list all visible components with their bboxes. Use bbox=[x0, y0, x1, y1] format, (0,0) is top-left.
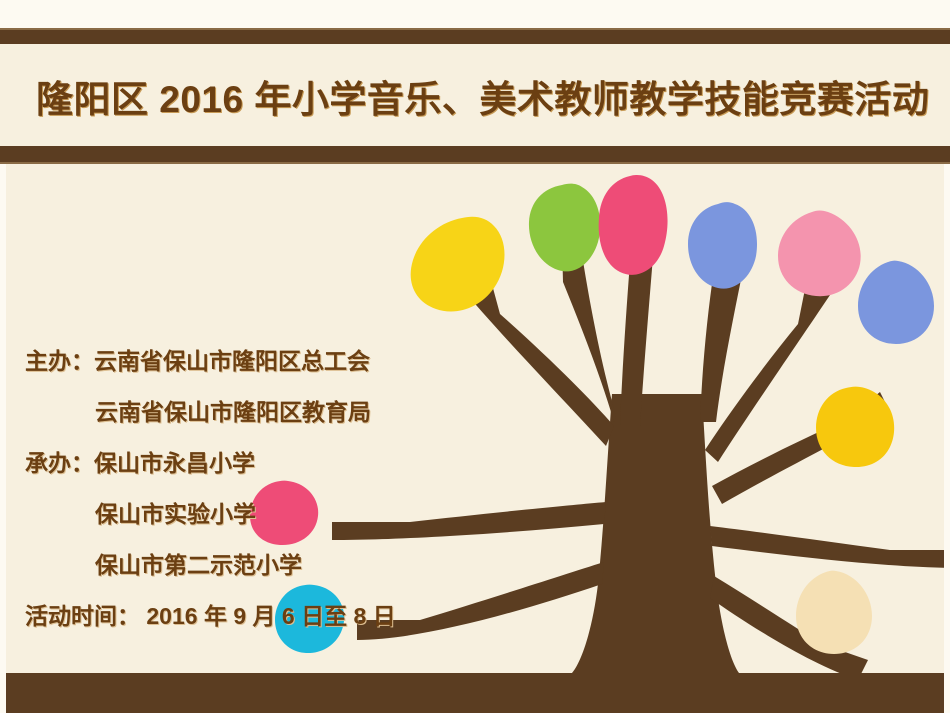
event-info-block: 主办：云南省保山市隆阳区总工会 云南省保山市隆阳区教育局 承办：保山市永昌小学 … bbox=[0, 350, 470, 628]
event-time-line: 活动时间： 2016 年 9 月 6 日至 8 日 bbox=[0, 605, 470, 628]
page-title: 隆阳区 2016 年小学音乐、美术教师教学技能竞赛活动 bbox=[0, 69, 929, 123]
leaf-pink bbox=[778, 211, 861, 297]
leaf-green bbox=[529, 184, 600, 272]
ground-bar bbox=[0, 673, 950, 713]
slide-top-edge bbox=[0, 0, 950, 28]
title-banner: 隆阳区 2016 年小学音乐、美术教师教学技能竞赛活动 bbox=[0, 28, 950, 164]
leaf-rose-top bbox=[599, 175, 668, 275]
banner-field: 隆阳区 2016 年小学音乐、美术教师教学技能竞赛活动 bbox=[0, 44, 950, 148]
host-line-2: 保山市实验小学 bbox=[0, 503, 470, 526]
leaf-cream bbox=[796, 571, 872, 654]
leaf-yellow-right bbox=[816, 387, 894, 467]
branch-yellow-right bbox=[710, 526, 950, 568]
organizer-line-1: 主办：云南省保山市隆阳区总工会 bbox=[0, 350, 470, 373]
leaf-periwinkle-right bbox=[858, 261, 934, 344]
organizer-line-2: 云南省保山市隆阳区教育局 bbox=[0, 401, 470, 424]
presentation-slide: 隆阳区 2016 年小学音乐、美术教师教学技能竞赛活动 bbox=[0, 0, 950, 713]
banner-rule-bottom bbox=[0, 146, 950, 164]
host-line-1: 承办：保山市永昌小学 bbox=[0, 452, 470, 475]
leaf-periwinkle-top bbox=[688, 202, 757, 289]
host-line-3: 保山市第二示范小学 bbox=[0, 554, 470, 577]
